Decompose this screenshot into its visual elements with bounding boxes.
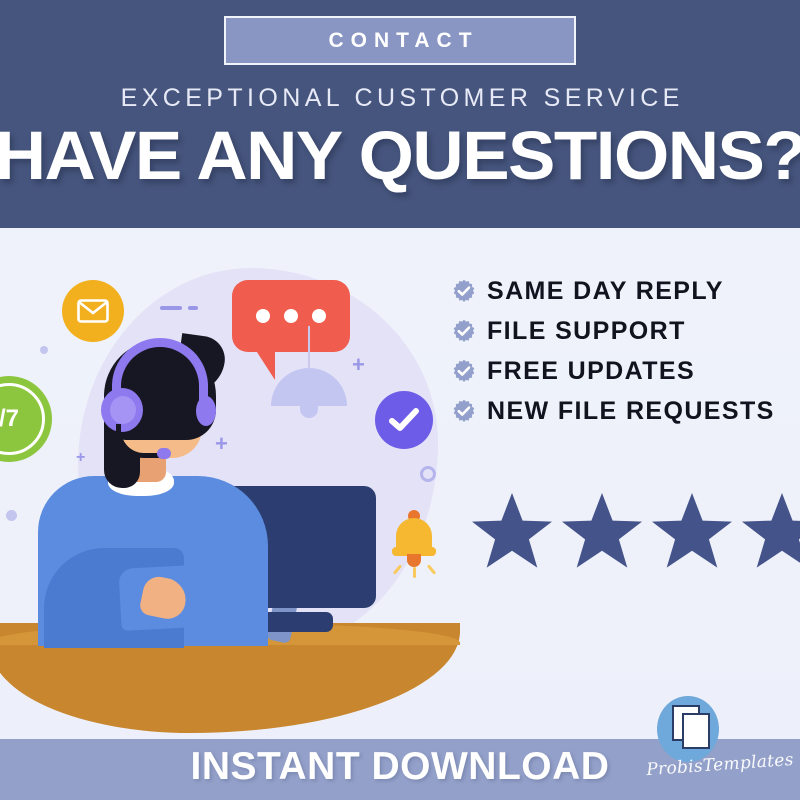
dash-decoration (160, 306, 182, 310)
bell-ray (427, 564, 436, 574)
chat-bubble-icon (232, 280, 350, 352)
ring-decoration (420, 466, 436, 482)
bubble-dot (256, 309, 270, 323)
plus-decoration: + (215, 433, 228, 455)
header-band: CONTACT EXCEPTIONAL CUSTOMER SERVICE HAV… (0, 0, 800, 228)
contact-badge-label: CONTACT (321, 29, 478, 53)
dot-decoration (40, 346, 48, 354)
dot-decoration (6, 510, 17, 521)
bell-clapper (407, 554, 421, 567)
document-icon (682, 713, 710, 749)
feature-checklist: SAME DAY REPLY FILE SUPPORT FREE UPDATES (452, 275, 800, 435)
contact-poster: CONTACT EXCEPTIONAL CUSTOMER SERVICE HAV… (0, 0, 800, 800)
lamp-cord (308, 326, 310, 370)
dash-decoration (188, 306, 198, 310)
list-item: FILE SUPPORT (452, 315, 800, 347)
star-rating (470, 487, 800, 579)
contact-badge: CONTACT (224, 16, 576, 65)
list-item-label: FILE SUPPORT (487, 317, 686, 346)
badge-check-icon (452, 359, 476, 383)
star-icon (470, 491, 554, 576)
list-item: SAME DAY REPLY (452, 275, 800, 307)
plus-decoration: + (352, 354, 365, 376)
headset-earcup-right (196, 396, 216, 426)
star-icon (650, 491, 734, 576)
bubble-dot (312, 309, 326, 323)
badge-check-icon (452, 279, 476, 303)
list-item: FREE UPDATES (452, 355, 800, 387)
star-icon (740, 491, 800, 576)
list-item-label: NEW FILE REQUESTS (487, 397, 775, 426)
header-subtitle: EXCEPTIONAL CUSTOMER SERVICE (0, 84, 800, 113)
list-item: NEW FILE REQUESTS (452, 395, 800, 427)
badge-check-icon (452, 319, 476, 343)
bell-ray (413, 567, 416, 578)
mail-icon (62, 280, 124, 342)
plus-decoration: + (76, 450, 85, 466)
headset-earcup-inner (110, 396, 136, 424)
headset-mic-tip (157, 448, 171, 459)
star-icon (560, 491, 644, 576)
bubble-dot (284, 309, 298, 323)
list-item-label: FREE UPDATES (487, 357, 695, 386)
page-title: HAVE ANY QUESTIONS? (0, 118, 800, 194)
notification-bell-icon (392, 506, 436, 560)
list-item-label: SAME DAY REPLY (487, 277, 724, 306)
check-circle-icon (375, 391, 433, 449)
badge-check-icon (452, 399, 476, 423)
